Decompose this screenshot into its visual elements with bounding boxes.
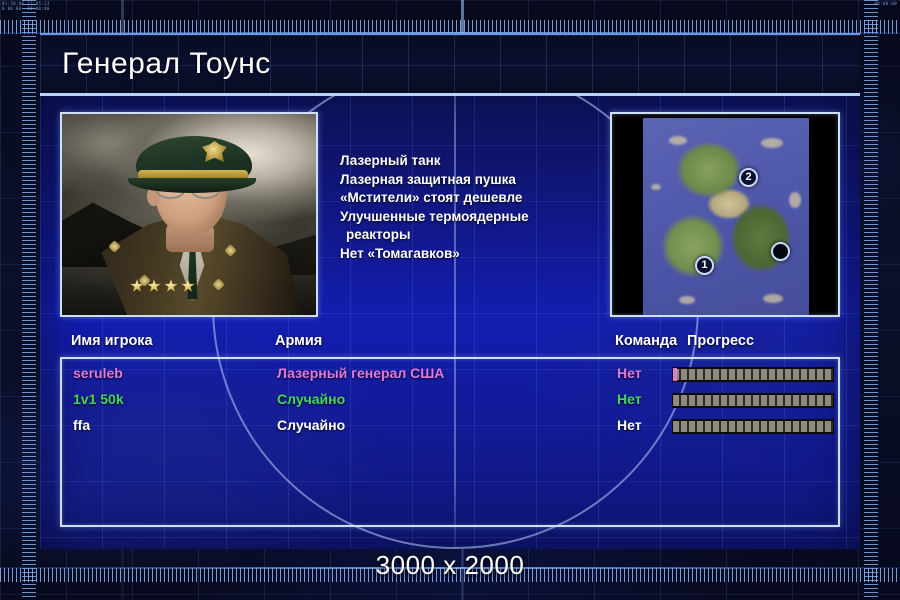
cell-progress-bar	[672, 367, 834, 382]
progress-bar-marker	[673, 368, 677, 381]
ability-line: Улучшенные термоядерные	[340, 208, 615, 227]
cell-player-name: 1v1 50k	[73, 391, 124, 407]
ruler-left	[22, 0, 36, 600]
portrait-rank-stars-icon	[130, 279, 210, 291]
cell-player-name: ffa	[73, 417, 90, 433]
progress-bar-segments	[673, 395, 833, 406]
page-title: Генерал Тоунс	[62, 47, 271, 81]
cell-team: Нет	[617, 417, 642, 433]
map-preview-image: 12	[643, 118, 809, 315]
general-ability-list: Лазерный танкЛазерная защитная пушка«Мст…	[340, 152, 615, 263]
ability-line: Нет «Томагавков»	[340, 245, 615, 264]
general-portrait	[60, 112, 318, 317]
map-resolution-label: 3000 x 2000	[0, 550, 900, 581]
ability-line: Лазерная защитная пушка	[340, 171, 615, 190]
panel-title-bar: Генерал Тоунс	[40, 33, 860, 96]
briefing-panel: Генерал Тоунс	[40, 33, 860, 549]
ability-line: «Мстители» стоят дешевле	[340, 189, 615, 208]
cell-team: Нет	[617, 391, 642, 407]
cell-team: Нет	[617, 365, 642, 381]
player-table: serulebЛазерный генерал СШАНет1v1 50kСлу…	[60, 357, 840, 527]
player-table-header: Имя игрока Армия Команда Прогресс	[60, 333, 840, 357]
map-start-position-marker[interactable]: 1	[695, 256, 714, 275]
map-preview: 12	[610, 112, 840, 317]
ability-line: Лазерный танк	[340, 152, 615, 171]
progress-bar-segments	[673, 369, 833, 380]
ruler-right	[864, 0, 878, 600]
game-screen: 01:38:06 17:05:23 0.00.00 00:00:00 00:00…	[0, 0, 900, 600]
table-row[interactable]: serulebЛазерный генерал СШАНет	[62, 365, 838, 386]
cell-army: Случайно	[277, 391, 345, 407]
cell-progress-bar	[672, 419, 834, 434]
map-start-position-marker[interactable]	[771, 242, 790, 261]
map-start-position-marker[interactable]: 2	[739, 168, 758, 187]
cell-progress-bar	[672, 393, 834, 408]
table-row[interactable]: ffaСлучайноНет	[62, 417, 838, 438]
table-row[interactable]: 1v1 50kСлучайноНет	[62, 391, 838, 412]
ability-line: реакторы	[340, 226, 615, 245]
progress-bar-segments	[673, 421, 833, 432]
cell-player-name: seruleb	[73, 365, 123, 381]
hud-timecode-right: 00:00:00	[875, 1, 897, 6]
hud-timecode-left: 01:38:06 17:05:23 0.00.00 00:00:00	[2, 1, 50, 11]
info-row: Лазерный танкЛазерная защитная пушка«Мст…	[60, 112, 840, 325]
cell-army: Лазерный генерал США	[277, 365, 444, 381]
column-header-army: Армия	[275, 333, 322, 349]
column-header-player: Имя игрока	[71, 333, 153, 349]
column-header-team: Команда	[615, 333, 677, 349]
cell-army: Случайно	[277, 417, 345, 433]
column-header-progress: Прогресс	[687, 333, 754, 349]
